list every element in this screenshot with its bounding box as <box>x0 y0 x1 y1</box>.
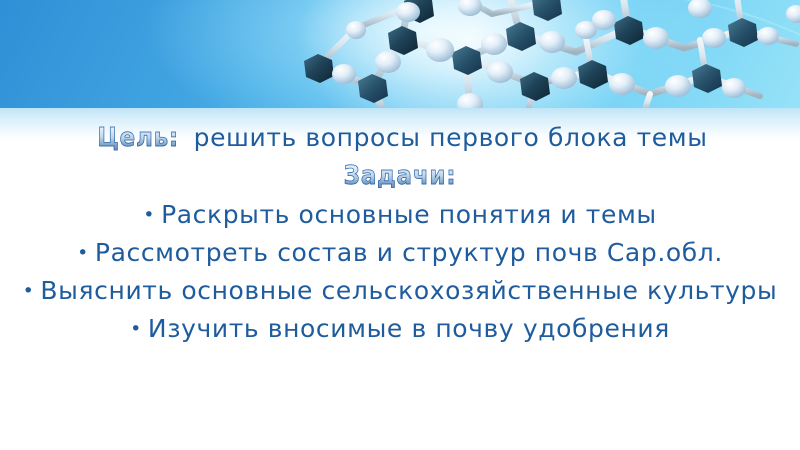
goal-label: Цель: <box>98 120 180 156</box>
molecule-lattice-icon <box>0 0 800 112</box>
bullet-icon: • <box>130 318 142 340</box>
list-item: •Раскрыть основные понятия и темы <box>0 196 800 234</box>
list-item-label: Выяснить основные сельскохозяйственные к… <box>40 276 777 305</box>
tasks-list: •Раскрыть основные понятия и темы •Рассм… <box>0 196 800 348</box>
list-item: •Выяснить основные сельскохозяйственные … <box>0 272 800 310</box>
goal-text: решить вопросы первого блока темы <box>185 123 708 152</box>
tasks-heading: Задачи: <box>0 158 800 194</box>
header-banner <box>0 0 800 112</box>
tasks-label: Задачи: <box>344 158 457 194</box>
list-item: •Рассмотреть состав и структур почв Сар.… <box>0 234 800 272</box>
list-item-label: Раскрыть основные понятия и темы <box>161 200 657 229</box>
bullet-icon: • <box>77 242 89 264</box>
list-item: •Изучить вносимые в почву удобрения <box>0 310 800 348</box>
bullet-icon: • <box>23 280 35 302</box>
slide-body: Цель: решить вопросы первого блока темы … <box>0 120 800 348</box>
list-item-label: Рассмотреть состав и структур почв Сар.о… <box>95 238 723 267</box>
goal-line: Цель: решить вопросы первого блока темы <box>0 120 800 156</box>
bullet-icon: • <box>143 204 155 226</box>
list-item-label: Изучить вносимые в почву удобрения <box>148 314 670 343</box>
presentation-slide: Цель: решить вопросы первого блока темы … <box>0 0 800 450</box>
